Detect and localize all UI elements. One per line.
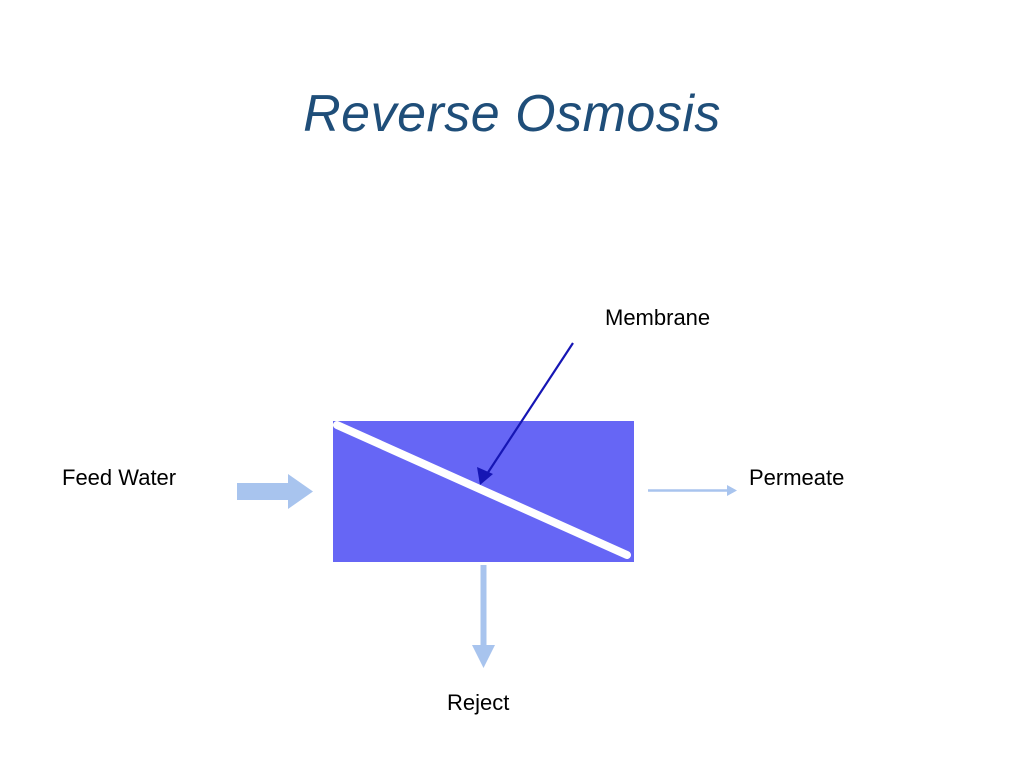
label-feed-water: Feed Water <box>62 467 176 489</box>
reject-arrow <box>472 565 495 668</box>
permeate-arrow <box>648 485 737 496</box>
reverse-osmosis-diagram <box>0 0 1024 768</box>
label-reject: Reject <box>447 692 509 714</box>
label-permeate: Permeate <box>749 467 844 489</box>
feed-water-arrow <box>237 474 313 509</box>
label-membrane: Membrane <box>605 307 710 329</box>
slide-canvas: Reverse Osmosis Feed Water Permeate Reje… <box>0 0 1024 768</box>
